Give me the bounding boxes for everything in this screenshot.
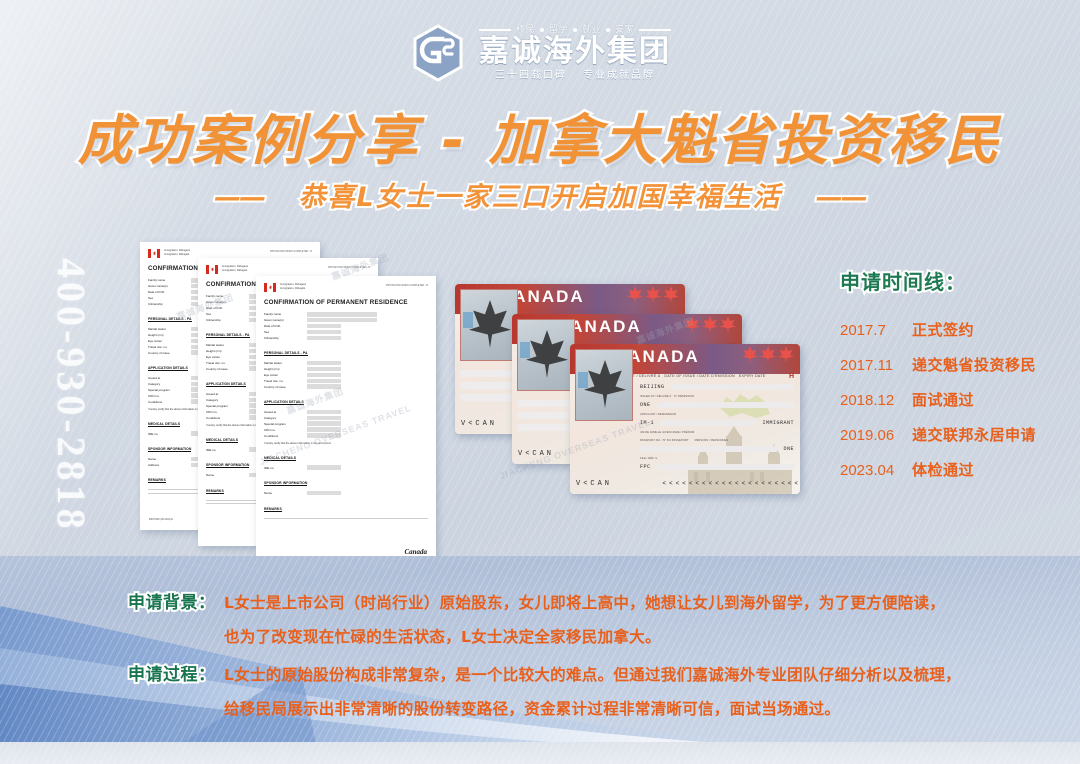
tagline-word-2: 就业 [582,25,601,34]
visa-photo-panel [460,289,518,361]
document-stack: Immigration, RefugeesImmigration, Réfugi… [140,236,415,536]
brand-sub-left: 三十四载口碑 [495,71,567,81]
visa-photo-panel [517,319,575,391]
process-text: L女士的原始股份构成非常复杂，是一个比较大的难点。但通过我们嘉诚海外专业团队仔细… [224,658,961,726]
tagline-rule-left [479,29,511,31]
brand-text: 移民 留学 就业 安家 嘉诚海外集团 三十四载口碑 专业成就品牌 [479,25,671,81]
brand-name: 嘉诚海外集团 [479,37,671,67]
maple-leaf-icon [684,316,736,333]
tagline-dot [540,28,544,32]
visa-field-list: BEIJING ISSUED AT / DÉLIVRÉ À · N° D'ÉMI… [640,384,794,474]
process-line: 给移民局展示出非常清晰的股份转变路径，资金累计过程非常清晰可信，面试当场通过。 [224,692,961,726]
timeline-item: 2019.06 递交联邦永居申请 [840,424,1070,445]
visa-doc-type: FPC [640,464,651,470]
tagline-word-0: 移民 [516,25,535,34]
timeline-date: 2017.7 [840,322,912,339]
page-subtitle: —— 恭喜L女士一家三口开启加国幸福生活 —— [0,175,1080,214]
maple-leaf-icon [742,346,794,363]
timeline-heading: 申请时间线： [840,266,1070,295]
timeline-date: 2018.12 [840,392,912,409]
timeline-date: 2017.11 [840,357,912,374]
tagline-dot [573,28,577,32]
visa-card-stack: CANADA ISSUED AT / DÉLIVRÉ À DATE OF ISS… [455,284,785,519]
gov-dept-text: Immigration, RefugeesImmigration, Réfugi… [164,249,190,257]
visa-category-caption: UM DE FAMILLE GIVEN NAME / PRÉNOM [640,430,694,434]
timeline-event: 面试通过 [912,389,974,410]
timeline-item: 2023.04 体检通过 [840,459,1070,480]
timeline-item: 2018.12 面试通过 [840,389,1070,410]
tagline-word-3: 安家 [615,25,634,34]
maple-leaf-watermark-icon [526,330,568,378]
visa-persons: ONE [783,446,794,452]
timeline-event: 体检通过 [912,459,974,480]
subtitle-dash-left: —— [214,182,264,213]
doc-section-heading: PERSONAL DETAILS - PA [148,317,192,322]
band-bottom-strip [0,742,1080,764]
timeline-event: 递交魁省投资移民 [912,354,1036,375]
timeline-item: 2017.7 正式签约 [840,319,1070,340]
page-title: 成功案例分享 - 加拿大魁省投资移民 [0,96,1080,175]
doc-title: CONFIRMATION OF PERMANENT RESIDENCE [264,299,428,306]
doc-reference: PROTECTED WHEN COMPLETED - B [270,250,312,253]
doc-section-heading: APPLICATION DETAILS [148,366,188,371]
timeline-date: 2023.04 [840,462,912,479]
subtitle-text: 恭喜L女士一家三口开启加国幸福生活 [298,182,781,213]
brand-sub-right: 专业成就品牌 [583,71,655,81]
background-line: 也为了改变现在忙碌的生活状态，L女士决定全家移民加拿大。 [224,620,945,654]
brand-logo: 移民 留学 就业 安家 嘉诚海外集团 三十四载口碑 专业成就品牌 [0,14,1080,92]
background-label: 申请背景： [128,586,224,613]
process-line: L女士的原始股份构成非常复杂，是一个比较大的难点。但通过我们嘉诚海外专业团队仔细… [224,658,961,692]
timeline-event: 递交联邦永居申请 [912,424,1036,445]
timeline-event: 正式签约 [912,319,974,340]
jc-hexagon-logo-icon [409,24,467,82]
visa-class: IMMIGRANT [762,420,794,426]
poster-canvas: 移民 留学 就业 安家 嘉诚海外集团 三十四载口碑 专业成就品牌 成功案例分享 … [0,0,1080,764]
doc-section-heading: MEDICAL DETAILS [148,422,180,427]
visa-applicants: ONE [640,402,651,408]
visa-grade-letter: H [789,373,794,380]
canada-pr-visa: CANADA ISSUED AT / DÉLIVRÉ À DATE OF ISS… [570,344,800,494]
doc-footer-code: IMM 5292 (06-2019) E [149,518,173,521]
visa-persons-caption: PERSONS / PERSONNES [695,438,729,442]
tagline-rule-right [639,29,671,31]
timeline-date: 2019.06 [840,427,912,444]
process-paragraph: 申请过程： L女士的原始股份构成非常复杂，是一个比较大的难点。但通过我们嘉诚海外… [128,658,961,726]
visa-file-caption: FILE / RÉF. S. [640,456,658,460]
visa-issued-at: BEIJING [640,384,665,390]
maple-leaf-watermark-icon [469,300,511,348]
visa-passport-caption: PASSPORT NO. / N° DU PASSEPORT [640,438,689,442]
tagline-dot [606,28,610,32]
doc-section-heading: REMARKS [148,478,166,483]
hotline-number: 400-930-2818 [48,258,95,533]
background-text: L女士是上市公司（时尚行业）原始股东，女儿即将上高中，她想让女儿到海外留学，为了… [224,586,945,654]
background-paragraph: 申请背景： L女士是上市公司（时尚行业）原始股东，女儿即将上高中，她想让女儿到海… [128,586,945,654]
application-timeline: 申请时间线： 2017.7 正式签约 2017.11 递交魁省投资移民 2018… [840,266,1070,494]
doc-section-heading: SPONSOR INFORMATION [148,447,191,452]
maple-leaf-icon [627,286,679,303]
visa-issued-at-caption: ISSUED AT / DÉLIVRÉ À · N° D'ÉMISSION [640,394,694,398]
visa-photo-panel [575,349,633,421]
visa-header-captions: ISSUED AT / DÉLIVRÉ À DATE OF ISSUE / DA… [614,374,796,378]
maple-leaf-watermark-icon [584,360,626,408]
visa-applicant-caption: APPLICANT / DEMANDEUR [640,412,676,416]
tagline-word-1: 留学 [549,25,568,34]
visa-mrz-line: V<CAN <<<<<<<<<<<<<<<<<<<<<<< [576,480,794,488]
visa-category: IM-1 [640,420,654,426]
subtitle-dash-right: —— [816,182,866,213]
background-line: L女士是上市公司（时尚行业）原始股东，女儿即将上高中，她想让女儿到海外留学，为了… [224,586,945,620]
brand-subtitle: 三十四载口碑 专业成就品牌 [495,71,655,81]
confirmation-document: Immigration, RefugeesImmigration, Réfugi… [256,276,436,564]
canada-wordmark: Canada [404,548,427,556]
timeline-item: 2017.11 递交魁省投资移民 [840,354,1070,375]
process-label: 申请过程： [128,658,224,685]
brand-tagline: 移民 留学 就业 安家 [479,25,671,34]
